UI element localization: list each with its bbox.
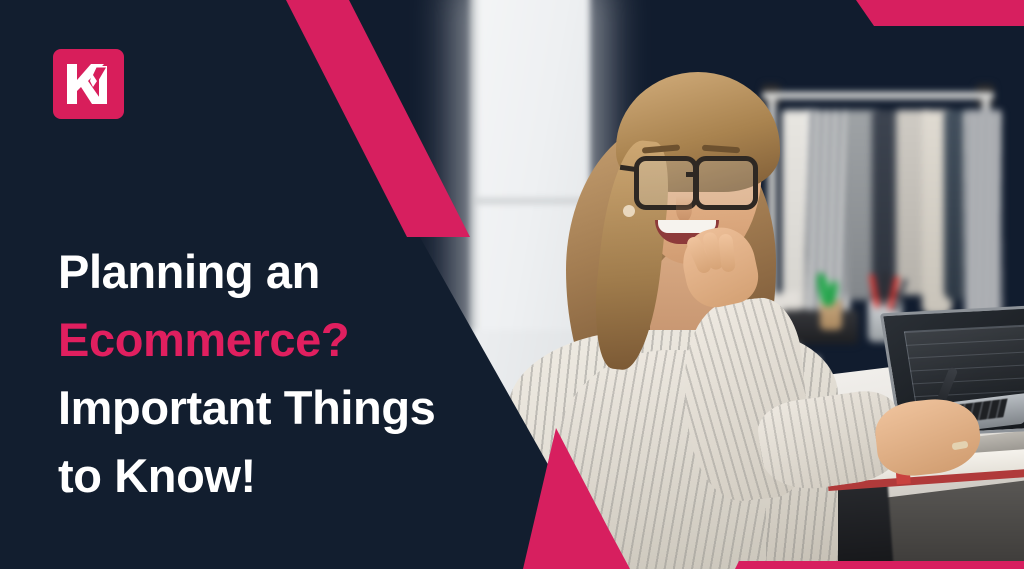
- glasses-bridge: [686, 172, 698, 177]
- blog-banner: Planning an Ecommerce? Important Things …: [0, 0, 1024, 569]
- km-monogram-icon: [66, 63, 112, 105]
- nose: [676, 196, 692, 222]
- headline-line-3: Important Things: [58, 374, 488, 442]
- headline-line-1: Planning an: [58, 238, 488, 306]
- glasses-lens-right: [694, 156, 758, 210]
- earring: [623, 205, 635, 217]
- headline-line-2: Ecommerce?: [58, 306, 488, 374]
- page-title: Planning an Ecommerce? Important Things …: [58, 238, 488, 510]
- garment: [964, 110, 1002, 320]
- clothing-rack-bar: [762, 92, 994, 99]
- headline-line-4: to Know!: [58, 442, 488, 510]
- km-logo[interactable]: [53, 49, 124, 119]
